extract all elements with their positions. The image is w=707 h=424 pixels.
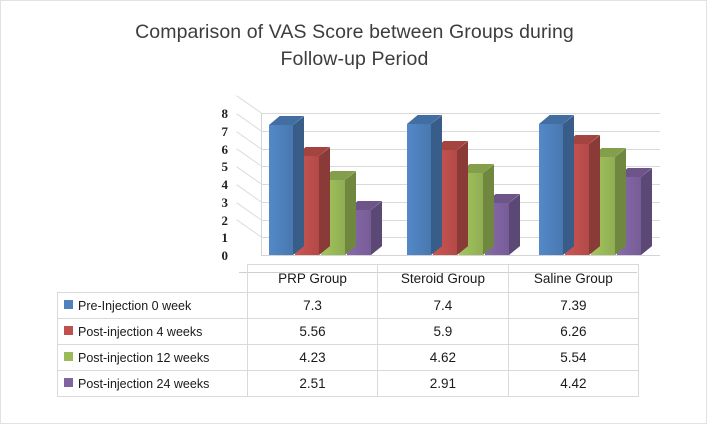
legend-cell: Post-injection 12 weeks xyxy=(58,345,248,371)
bar-side-face xyxy=(457,141,468,255)
bar-group xyxy=(407,113,537,255)
y-axis-tick: 4 xyxy=(206,178,228,191)
table-row: Pre-Injection 0 week7.37.47.39 xyxy=(58,293,639,319)
bar-side-face xyxy=(641,168,652,255)
bar-side-face xyxy=(615,148,626,255)
y-axis-tick: 5 xyxy=(206,160,228,173)
bar-group xyxy=(269,113,399,255)
gridline-depth xyxy=(236,220,262,239)
y-axis-tick: 1 xyxy=(206,231,228,244)
data-table: PRP GroupSteroid GroupSaline GroupPre-In… xyxy=(57,264,639,397)
bar-group xyxy=(539,113,669,255)
bar-side-face xyxy=(293,117,304,255)
data-table-body: PRP GroupSteroid GroupSaline GroupPre-In… xyxy=(58,265,639,397)
bar-side-face xyxy=(509,194,520,255)
bar-side-face xyxy=(589,135,600,255)
y-axis-tick: 2 xyxy=(206,214,228,227)
legend-label: Post-injection 24 weeks xyxy=(78,377,209,391)
bar-front-face xyxy=(407,124,431,255)
legend-label: Post-injection 4 weeks xyxy=(78,325,202,339)
y-axis-tick: 6 xyxy=(206,143,228,156)
table-value-cell: 5.54 xyxy=(508,345,638,371)
legend-swatch-icon xyxy=(64,300,73,309)
y-axis-tick: 0 xyxy=(206,249,228,262)
table-value-cell: 5.9 xyxy=(378,319,508,345)
gridline-depth xyxy=(236,149,262,168)
table-value-cell: 2.51 xyxy=(247,371,377,397)
gridline-depth xyxy=(236,202,262,221)
y-axis-tick: 3 xyxy=(206,196,228,209)
gridline-depth xyxy=(236,95,262,114)
y-axis-tick: 8 xyxy=(206,107,228,120)
table-row: Post-injection 4 weeks5.565.96.26 xyxy=(58,319,639,345)
table-value-cell: 7.39 xyxy=(508,293,638,319)
bar-side-face xyxy=(483,164,494,255)
legend-label: Post-injection 12 weeks xyxy=(78,351,209,365)
bar-side-face xyxy=(371,202,382,255)
legend-label: Pre-Injection 0 week xyxy=(78,299,191,313)
gridline-depth xyxy=(236,184,262,203)
table-column-header: Steroid Group xyxy=(378,265,508,293)
table-header-row: PRP GroupSteroid GroupSaline Group xyxy=(58,265,639,293)
table-row: Post-injection 24 weeks2.512.914.42 xyxy=(58,371,639,397)
chart-screenshot: Comparison of VAS Score between Groups d… xyxy=(0,0,707,424)
table-column-header: Saline Group xyxy=(508,265,638,293)
gridline-depth xyxy=(236,113,262,132)
table-value-cell: 4.23 xyxy=(247,345,377,371)
bar xyxy=(269,125,293,255)
table-value-cell: 6.26 xyxy=(508,319,638,345)
bar-side-face xyxy=(563,115,574,255)
legend-cell: Post-injection 24 weeks xyxy=(58,371,248,397)
table-row: Post-injection 12 weeks4.234.625.54 xyxy=(58,345,639,371)
legend-cell: Pre-Injection 0 week xyxy=(58,293,248,319)
table-corner-cell xyxy=(58,265,248,293)
bar-side-face xyxy=(431,115,442,255)
gridline-depth xyxy=(236,131,262,150)
table-column-header: PRP Group xyxy=(247,265,377,293)
bar xyxy=(407,124,431,255)
table-value-cell: 4.62 xyxy=(378,345,508,371)
table-value-cell: 5.56 xyxy=(247,319,377,345)
table-value-cell: 4.42 xyxy=(508,371,638,397)
chart-title-line1: Comparison of VAS Score between Groups d… xyxy=(135,21,574,43)
chart-title-line2: Follow-up Period xyxy=(281,48,429,70)
table-value-cell: 7.3 xyxy=(247,293,377,319)
table-value-cell: 7.4 xyxy=(378,293,508,319)
table-value-cell: 2.91 xyxy=(378,371,508,397)
legend-cell: Post-injection 4 weeks xyxy=(58,319,248,345)
bar-front-face xyxy=(269,125,293,255)
bars-canvas xyxy=(239,113,659,273)
gridline-depth xyxy=(236,166,262,185)
bar-front-face xyxy=(539,124,563,255)
plot-area: 876543210 xyxy=(206,113,666,273)
legend-swatch-icon xyxy=(64,326,73,335)
bar-side-face xyxy=(345,171,356,255)
legend-swatch-icon xyxy=(64,378,73,387)
bar xyxy=(539,124,563,255)
y-axis-tick: 7 xyxy=(206,125,228,138)
y-axis: 876543210 xyxy=(206,113,228,265)
legend-swatch-icon xyxy=(64,352,73,361)
bar-side-face xyxy=(319,147,330,255)
chart-title: Comparison of VAS Score between Groups d… xyxy=(41,19,668,73)
